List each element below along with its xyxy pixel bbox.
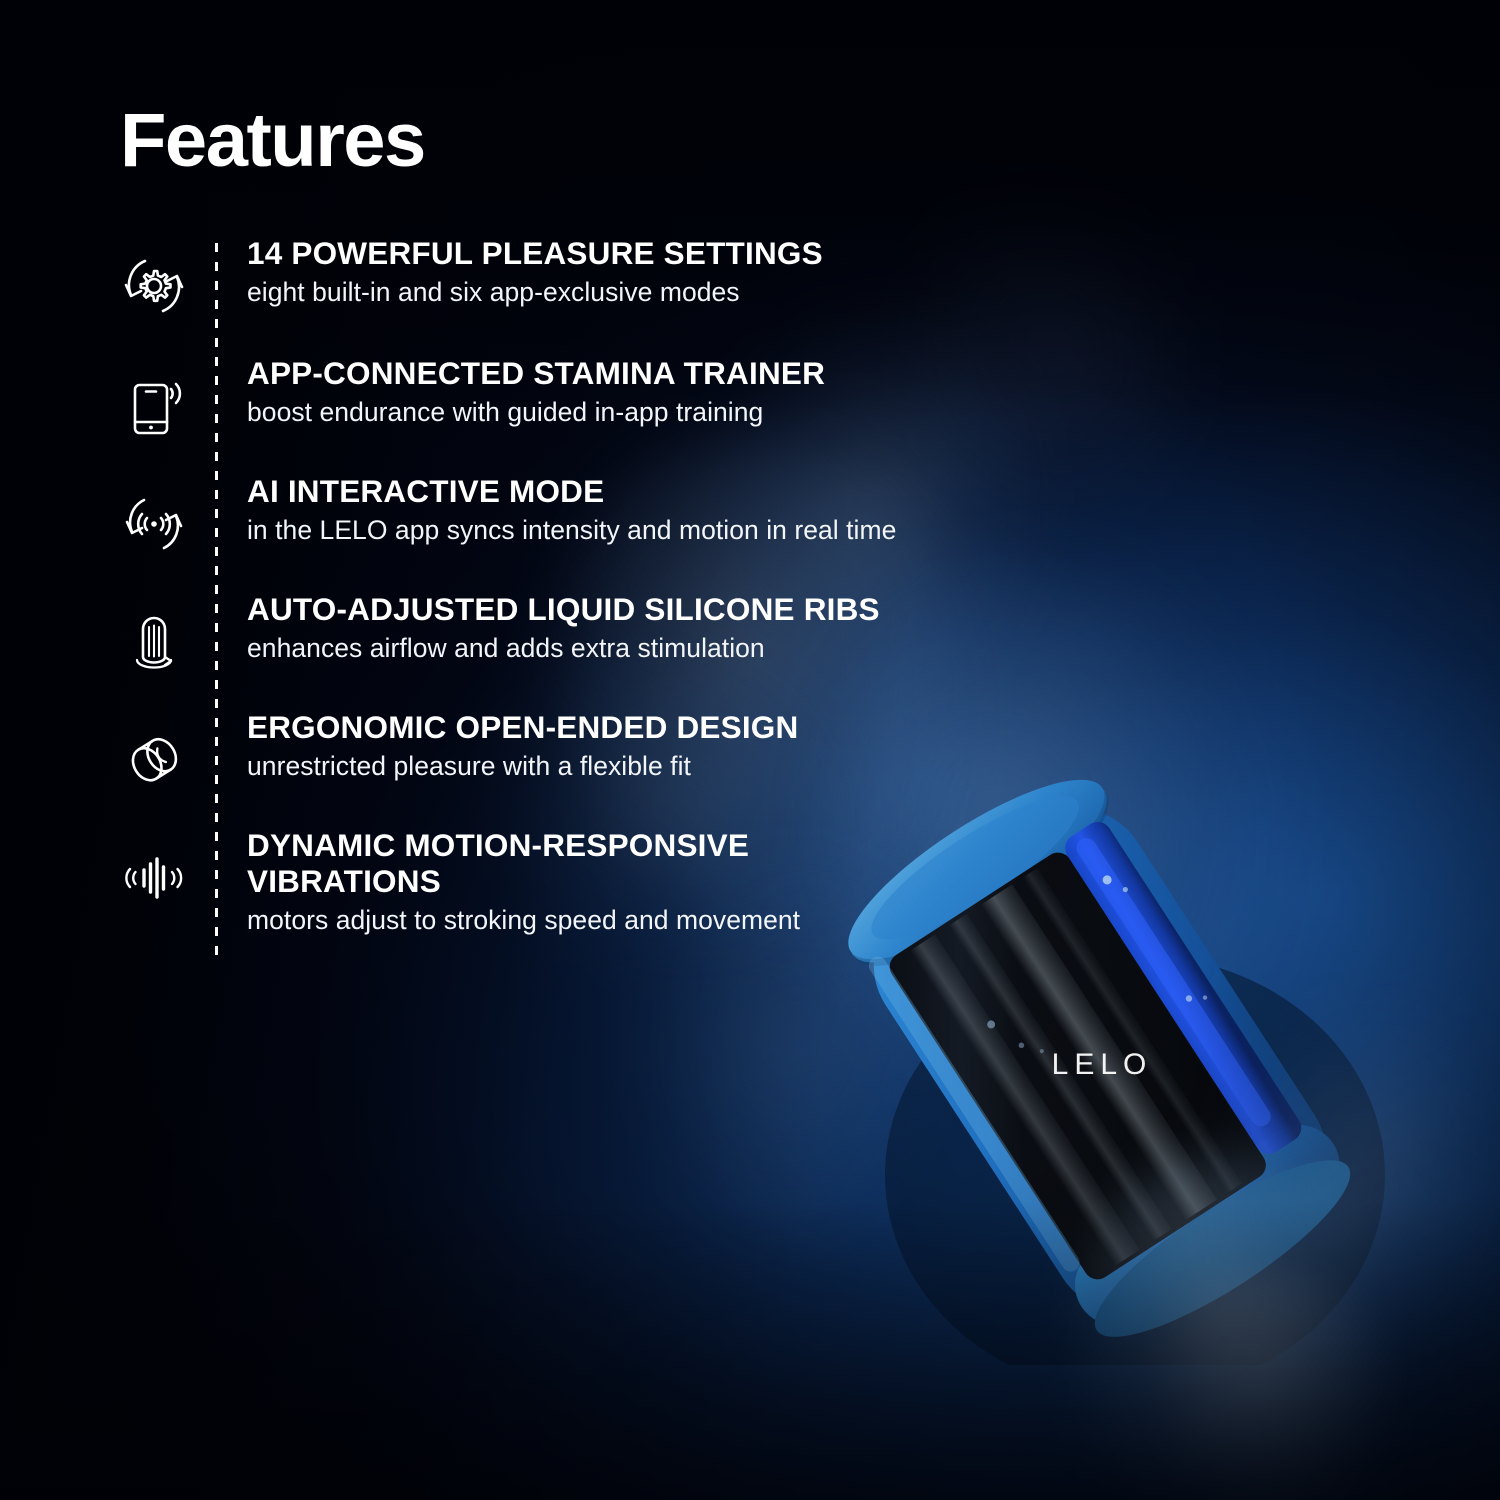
feature-text: ERGONOMIC OPEN-ENDED DESIGN unrestricted… — [200, 710, 1068, 783]
feature-title: AI INTERACTIVE MODE — [247, 474, 1068, 510]
feature-text: 14 POWERFUL PLEASURE SETTINGS eight buil… — [200, 236, 1068, 309]
page-title: Features — [120, 103, 425, 179]
feature-item: DYNAMIC MOTION-RESPONSIVE VIBRATIONS mot… — [108, 828, 1068, 937]
feature-item: ERGONOMIC OPEN-ENDED DESIGN unrestricted… — [108, 710, 1068, 806]
feature-title: DYNAMIC MOTION-RESPONSIVE VIBRATIONS — [247, 828, 1068, 900]
feature-subtitle: in the LELO app syncs intensity and moti… — [247, 515, 1068, 547]
feature-item: 14 POWERFUL PLEASURE SETTINGS eight buil… — [108, 236, 1068, 332]
vibration-waveform-icon — [108, 832, 200, 924]
feature-item: AI INTERACTIVE MODE in the LELO app sync… — [108, 474, 1068, 570]
feature-title: ERGONOMIC OPEN-ENDED DESIGN — [247, 710, 1068, 746]
feature-text: APP-CONNECTED STAMINA TRAINER boost endu… — [200, 356, 1068, 429]
infographic-canvas: LELO Features 14 P — [0, 0, 1500, 1500]
feature-title: AUTO-ADJUSTED LIQUID SILICONE RIBS — [247, 592, 1068, 628]
ribbed-sleeve-rotate-icon — [108, 596, 200, 688]
feature-subtitle: enhances airflow and adds extra stimulat… — [247, 633, 1068, 665]
feature-subtitle: eight built-in and six app-exclusive mod… — [247, 277, 1068, 309]
feature-text: AUTO-ADJUSTED LIQUID SILICONE RIBS enhan… — [200, 592, 1068, 665]
feature-subtitle: unrestricted pleasure with a flexible fi… — [247, 751, 1068, 783]
feature-list: 14 POWERFUL PLEASURE SETTINGS eight buil… — [108, 236, 1068, 937]
feature-title: APP-CONNECTED STAMINA TRAINER — [247, 356, 1068, 392]
broadcast-cycle-icon — [108, 478, 200, 570]
feature-item: AUTO-ADJUSTED LIQUID SILICONE RIBS enhan… — [108, 592, 1068, 688]
feature-title: 14 POWERFUL PLEASURE SETTINGS — [247, 236, 1068, 272]
phone-signal-icon — [108, 360, 200, 452]
background-bottom-fade — [0, 1200, 1500, 1500]
settings-cycle-icon — [108, 240, 200, 332]
open-ended-tube-icon — [108, 714, 200, 806]
feature-text: DYNAMIC MOTION-RESPONSIVE VIBRATIONS mot… — [200, 828, 1068, 937]
feature-subtitle: boost endurance with guided in-app train… — [247, 397, 1068, 429]
feature-item: APP-CONNECTED STAMINA TRAINER boost endu… — [108, 356, 1068, 452]
feature-subtitle: motors adjust to stroking speed and move… — [247, 905, 1068, 937]
feature-text: AI INTERACTIVE MODE in the LELO app sync… — [200, 474, 1068, 547]
